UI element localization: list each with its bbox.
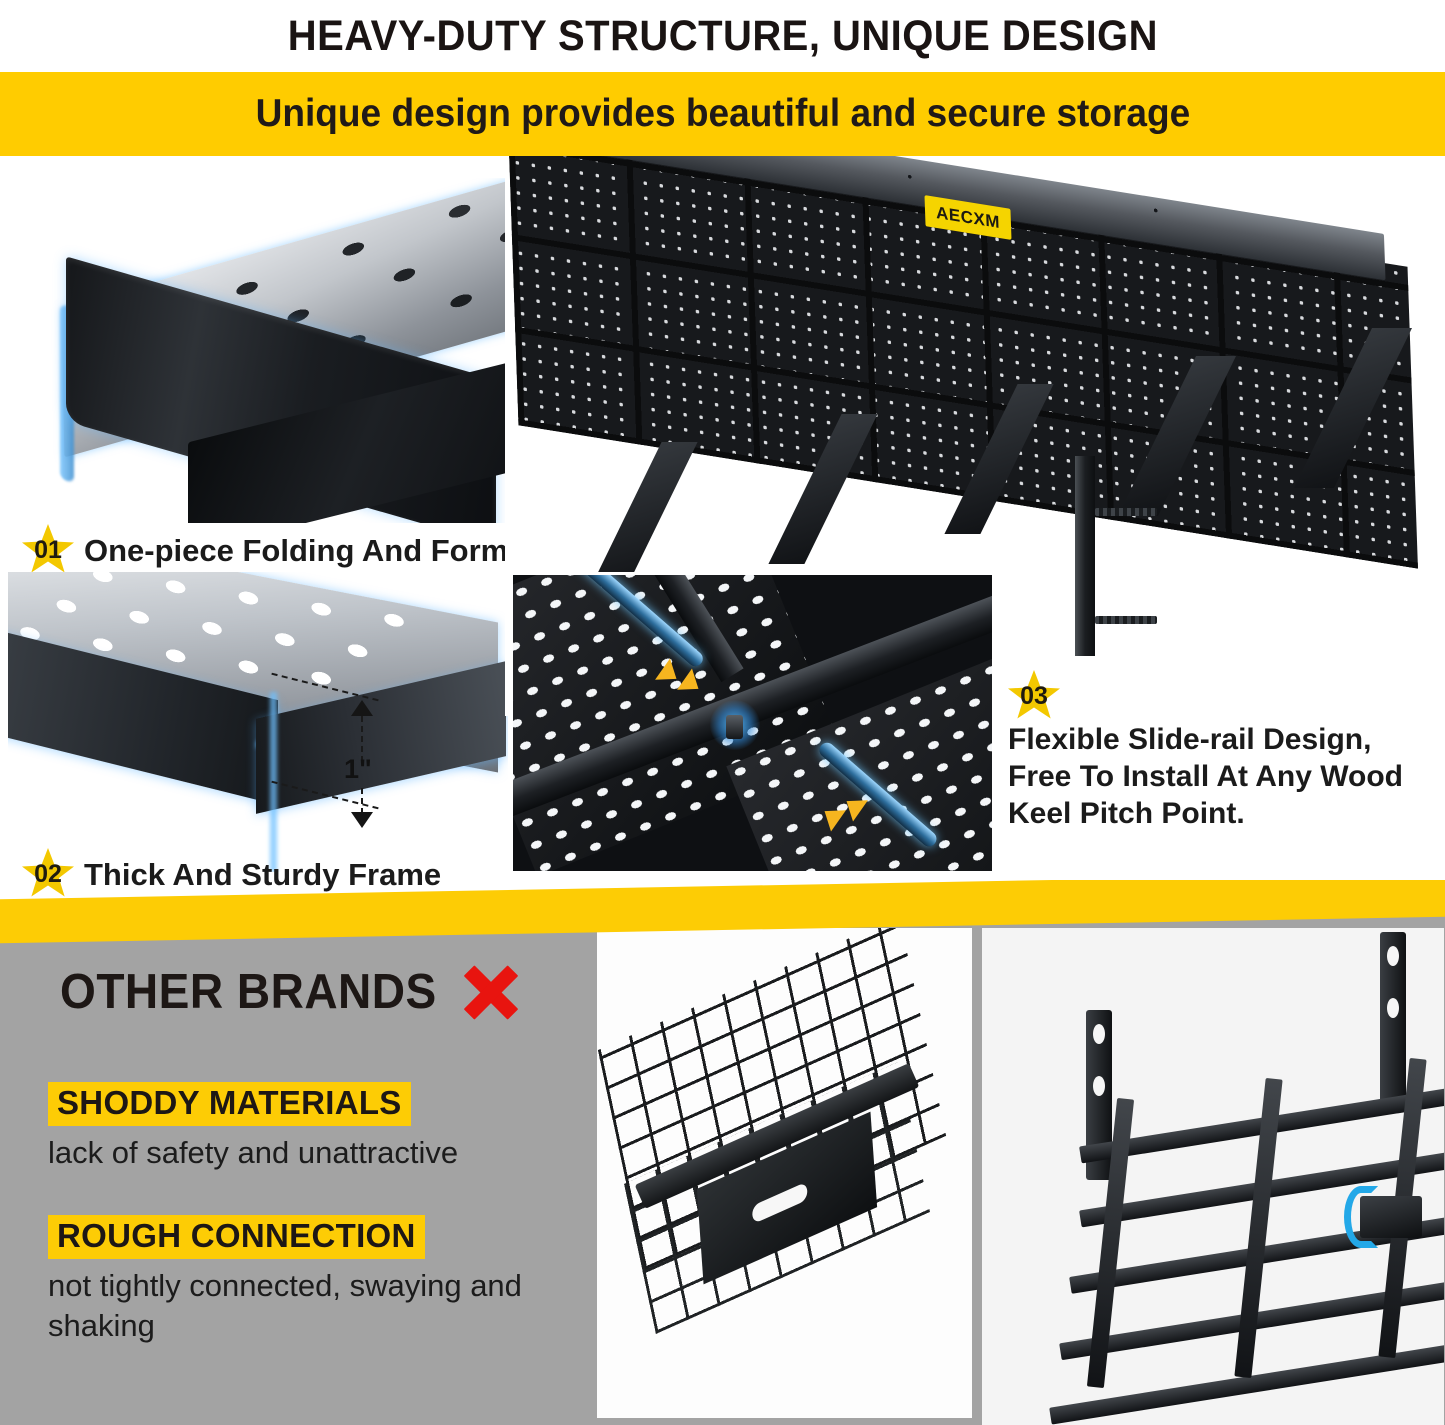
divider-band	[0, 880, 1445, 944]
star-badge-icon: 03	[1008, 670, 1060, 720]
defect-item-materials: SHODDY MATERIALS lack of safety and unat…	[48, 1082, 458, 1173]
comparison-section: OTHER BRANDS SHODDY MATERIALS lack of sa…	[0, 910, 1445, 1425]
defect-item-connection: ROUGH CONNECTION not tightly connected, …	[48, 1215, 568, 1345]
page-subtitle: Unique design provides beautiful and sec…	[255, 92, 1190, 136]
bolt-head-icon	[726, 715, 743, 739]
defect-tagline: ROUGH CONNECTION	[48, 1215, 425, 1259]
features-section: 01 One-piece Folding And Forming 1" 02	[0, 156, 1445, 898]
feature-number: 01	[34, 536, 62, 565]
dimension-line-lower	[361, 788, 363, 814]
header-subtitle-band: Unique design provides beautiful and sec…	[0, 72, 1445, 156]
star-badge-icon: 01	[22, 524, 74, 574]
rack-anchor-bolt	[1095, 508, 1157, 516]
feature-callout-03: 03 Flexible Slide-rail Design, Free To I…	[1008, 670, 1428, 833]
comparison-heading: OTHER BRANDS	[48, 964, 519, 1020]
product-infographic: HEAVY-DUTY STRUCTURE, UNIQUE DESIGN Uniq…	[0, 0, 1445, 1425]
photo-competitor-frame-rack	[982, 928, 1444, 1425]
blue-hook-icon	[1344, 1186, 1378, 1248]
rack-brace	[588, 442, 697, 592]
rack-wall-post	[1075, 456, 1095, 656]
defect-description: not tightly connected, swaying and shaki…	[48, 1266, 568, 1345]
comparison-heading-text: OTHER BRANDS	[60, 964, 437, 1020]
section-divider	[0, 880, 1445, 964]
dimension-value: 1"	[344, 754, 372, 785]
brand-logo-text: AECXM	[936, 202, 1001, 232]
defect-description: lack of safety and unattractive	[48, 1133, 458, 1173]
feature-label: Flexible Slide-rail Design, Free To Inst…	[1008, 722, 1428, 833]
photo-frame-corner: 1"	[8, 572, 508, 872]
photo-slide-rail-closeup	[510, 572, 995, 874]
header-title-bar: HEAVY-DUTY STRUCTURE, UNIQUE DESIGN	[0, 0, 1445, 72]
dimension-arrow-up-icon	[351, 700, 373, 716]
rack-anchor-bolt	[1095, 616, 1157, 624]
feature-number: 03	[1020, 682, 1048, 711]
photo-one-piece-beam	[8, 178, 508, 523]
page-title: HEAVY-DUTY STRUCTURE, UNIQUE DESIGN	[287, 12, 1157, 61]
photo-competitor-wire-shelf	[597, 928, 972, 1418]
defect-tagline: SHODDY MATERIALS	[48, 1082, 411, 1126]
feature-callout-01: 01 One-piece Folding And Forming	[22, 524, 555, 574]
feature-label: One-piece Folding And Forming	[84, 524, 555, 570]
x-mark-icon	[463, 964, 519, 1020]
dimension-arrow-down-icon	[351, 812, 373, 828]
